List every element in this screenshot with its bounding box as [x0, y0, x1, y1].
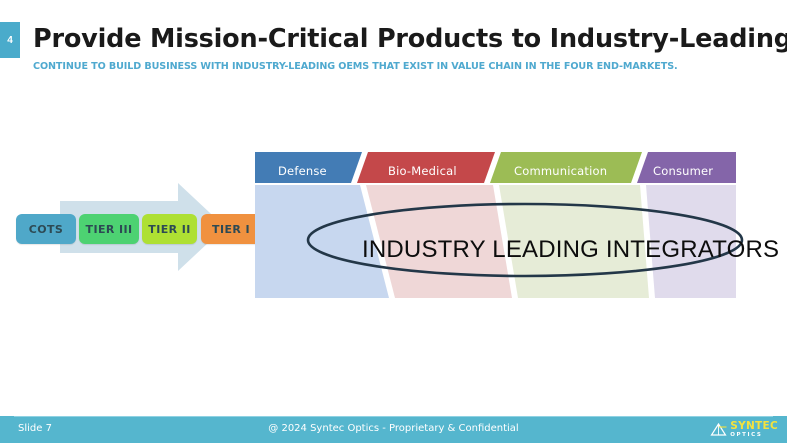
tier-chip-tier-ii[interactable]: TIER II [142, 214, 197, 244]
logo-name: SYNTEC [730, 421, 778, 432]
tier-chip-label: COTS [29, 223, 63, 236]
page-title: Provide Mission-Critical Products to Ind… [33, 24, 787, 54]
footer-divider [14, 416, 773, 417]
page-subtitle: CONTINUE TO BUILD BUSINESS WITH INDUSTRY… [33, 61, 678, 72]
slide-number-badge: 4 [0, 22, 20, 58]
syntec-optics-logo: SYNTEC OPTICS [710, 421, 778, 438]
logo-tagline: OPTICS [730, 433, 778, 439]
tier-chip-label: TIER II [148, 223, 190, 236]
slide-footer: Slide 7 @ 2024 Syntec Optics - Proprieta… [0, 416, 787, 443]
tier-chip-tier-iii[interactable]: TIER III [79, 214, 139, 244]
callout-label: INDUSTRY LEADING INTEGRATORS [362, 236, 779, 264]
market-tab-label-consumer[interactable]: Consumer [653, 164, 713, 178]
tier-chip-label: TIER III [86, 223, 133, 236]
market-tab-label-communication[interactable]: Communication [514, 164, 607, 178]
market-tab-label-bio-medical[interactable]: Bio-Medical [388, 164, 457, 178]
tier-chip-label: TIER I [212, 223, 250, 236]
slide-canvas: 4 Provide Mission-Critical Products to I… [0, 0, 787, 443]
prism-triangle-icon [710, 422, 727, 437]
logo-wordmark: SYNTEC OPTICS [730, 421, 778, 438]
footer-copyright: @ 2024 Syntec Optics - Proprietary & Con… [0, 423, 787, 434]
tier-chip-cots[interactable]: COTS [16, 214, 76, 244]
market-tab-label-defense[interactable]: Defense [278, 164, 327, 178]
